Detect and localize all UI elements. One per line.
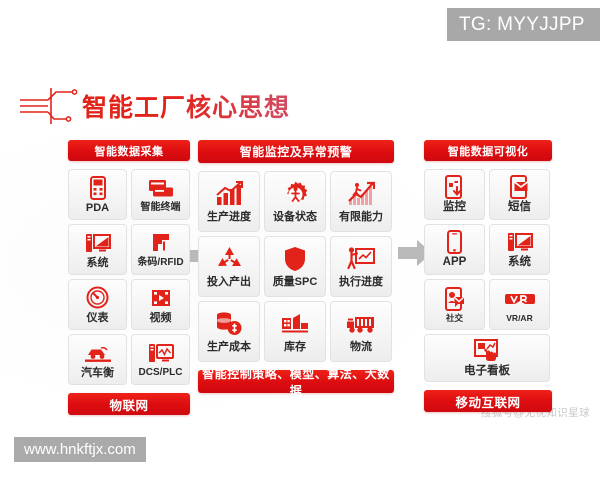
card-execution-progress[interactable]: 执行进度 [330, 236, 392, 297]
card-label: DCS/PLC [139, 368, 183, 378]
column-footer-middle: 智能控制策略、模型、算法、大数据 [198, 370, 394, 393]
card-label: 仪表 [87, 313, 109, 324]
card-label: 生产进度 [207, 212, 251, 223]
pda-icon [90, 176, 106, 200]
card-grid-middle: 生产进度 设备状态 有限能力 投入产出 [198, 171, 394, 362]
card-logistics[interactable]: 物流 [330, 301, 392, 362]
card-system-right[interactable]: 系统 [489, 224, 550, 275]
page-title: 智能工厂核心思想 [18, 86, 290, 126]
recycle-icon [216, 245, 243, 273]
card-social[interactable]: 社交 [424, 279, 485, 330]
card-quality-spc[interactable]: 质量SPC [264, 236, 326, 297]
card-label: 系统 [508, 257, 531, 269]
card-label: 社交 [446, 314, 463, 323]
bar-chart-up-icon [215, 180, 243, 208]
truck-scale-icon [84, 341, 112, 365]
card-app[interactable]: APP [424, 224, 485, 275]
smartphone-icon [447, 230, 462, 254]
column-data-collection: 智能数据采集 PDA 智能终端 系统 [68, 140, 190, 415]
card-label: 执行进度 [339, 277, 383, 288]
card-video[interactable]: 视频 [131, 279, 190, 330]
card-truck-scale[interactable]: 汽车衡 [68, 334, 127, 385]
column-footer-right: 移动互联网 [424, 390, 552, 412]
card-vr-ar[interactable]: VR/AR [489, 279, 550, 330]
system-monitor-icon [507, 230, 533, 254]
telegram-watermark: TG: MYYJJPP [447, 8, 600, 41]
card-barcode-rfid[interactable]: 条码/RFID [131, 224, 190, 275]
gauge-icon [86, 286, 109, 310]
card-pda[interactable]: PDA [68, 169, 127, 220]
presenter-board-icon [347, 245, 375, 273]
truck-icon [346, 310, 376, 338]
card-inventory[interactable]: 库存 [264, 301, 326, 362]
card-label: 质量SPC [273, 277, 318, 288]
card-label: 投入产出 [207, 277, 251, 288]
dashboard-hand-icon [474, 339, 500, 363]
card-electronic-kanban[interactable]: 电子看板 [424, 334, 550, 382]
infographic-canvas: TG: MYYJJPP www.hnkftjx.com 搜狐号@无忧知识星球 智… [0, 0, 600, 480]
system-monitor-icon [85, 231, 111, 255]
card-monitoring[interactable]: 监控 [424, 169, 485, 220]
social-chat-icon [445, 287, 465, 311]
dcs-plc-icon [148, 341, 174, 365]
circuit-decoration-icon [18, 86, 80, 126]
card-label: 视频 [150, 313, 172, 324]
column-header-middle: 智能监控及异常预警 [198, 140, 394, 163]
card-label: 库存 [284, 342, 306, 353]
card-label: VR/AR [506, 314, 532, 323]
card-label: 电子看板 [464, 366, 510, 378]
card-label: 智能终端 [141, 203, 181, 213]
card-dcs-plc[interactable]: DCS/PLC [131, 334, 190, 385]
card-label: 系统 [87, 258, 109, 269]
card-label: 设备状态 [273, 212, 317, 223]
card-label: 短信 [508, 202, 531, 214]
card-instrument[interactable]: 仪表 [68, 279, 127, 330]
gear-person-icon [282, 180, 309, 208]
card-label: APP [443, 257, 467, 269]
runner-chart-icon [347, 180, 375, 208]
site-watermark: www.hnkftjx.com [14, 437, 146, 462]
card-smart-terminal[interactable]: 智能终端 [131, 169, 190, 220]
sms-message-icon [510, 175, 530, 199]
card-sms[interactable]: 短信 [489, 169, 550, 220]
card-label: 有限能力 [339, 212, 383, 223]
money-coins-icon [215, 310, 243, 338]
column-visualization: 智能数据可视化 监控 短信 APP [424, 140, 552, 412]
card-grid-left: PDA 智能终端 系统 条码/RFID [68, 169, 190, 385]
card-label: 汽车衡 [81, 368, 114, 379]
smart-terminal-icon [148, 176, 174, 200]
mobile-monitor-icon [445, 175, 465, 199]
page-title-text: 智能工厂核心思想 [82, 88, 290, 124]
card-label: 条码/RFID [137, 258, 183, 268]
video-camera-icon [150, 286, 172, 310]
card-input-output[interactable]: 投入产出 [198, 236, 260, 297]
warehouse-icon [281, 310, 309, 338]
card-system[interactable]: 系统 [68, 224, 127, 275]
card-label: 监控 [443, 202, 466, 214]
card-production-cost[interactable]: 生产成本 [198, 301, 260, 362]
card-grid-right: 监控 短信 APP 系统 [424, 169, 552, 382]
barcode-scanner-icon [150, 231, 172, 255]
card-equipment-status[interactable]: 设备状态 [264, 171, 326, 232]
card-label: 物流 [350, 342, 372, 353]
column-header-left: 智能数据采集 [68, 140, 190, 161]
card-label: 生产成本 [207, 342, 251, 353]
card-production-progress[interactable]: 生产进度 [198, 171, 260, 232]
column-footer-left: 物联网 [68, 393, 190, 415]
column-header-right: 智能数据可视化 [424, 140, 552, 161]
card-label: PDA [86, 203, 109, 214]
vr-ar-icon [505, 287, 535, 311]
column-monitoring: 智能监控及异常预警 生产进度 设备状态 有限能力 [198, 140, 394, 393]
card-limited-capacity[interactable]: 有限能力 [330, 171, 392, 232]
shield-icon [284, 245, 306, 273]
